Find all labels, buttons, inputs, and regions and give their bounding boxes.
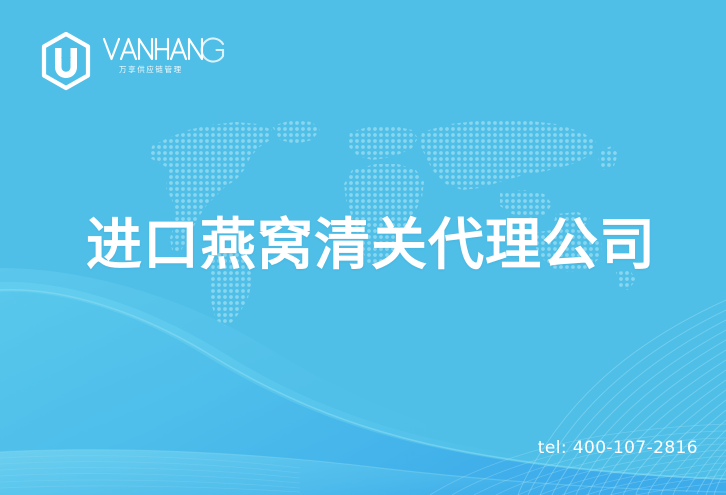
- page-title: 进口燕窝清关代理公司: [86, 212, 656, 280]
- contact-phone[interactable]: tel: 400-107-2816: [538, 438, 698, 458]
- brand-subtitle: 万享供应链管理: [119, 64, 183, 75]
- brand-wordmark: 万享供应链管理: [102, 33, 226, 89]
- brand-logo[interactable]: 万享供应链管理: [38, 30, 228, 92]
- promo-banner: 万享供应链管理 进口燕窝清关代理公司 tel: 400-107-2816: [0, 0, 726, 495]
- hexagon-u-mark-icon: [38, 31, 94, 91]
